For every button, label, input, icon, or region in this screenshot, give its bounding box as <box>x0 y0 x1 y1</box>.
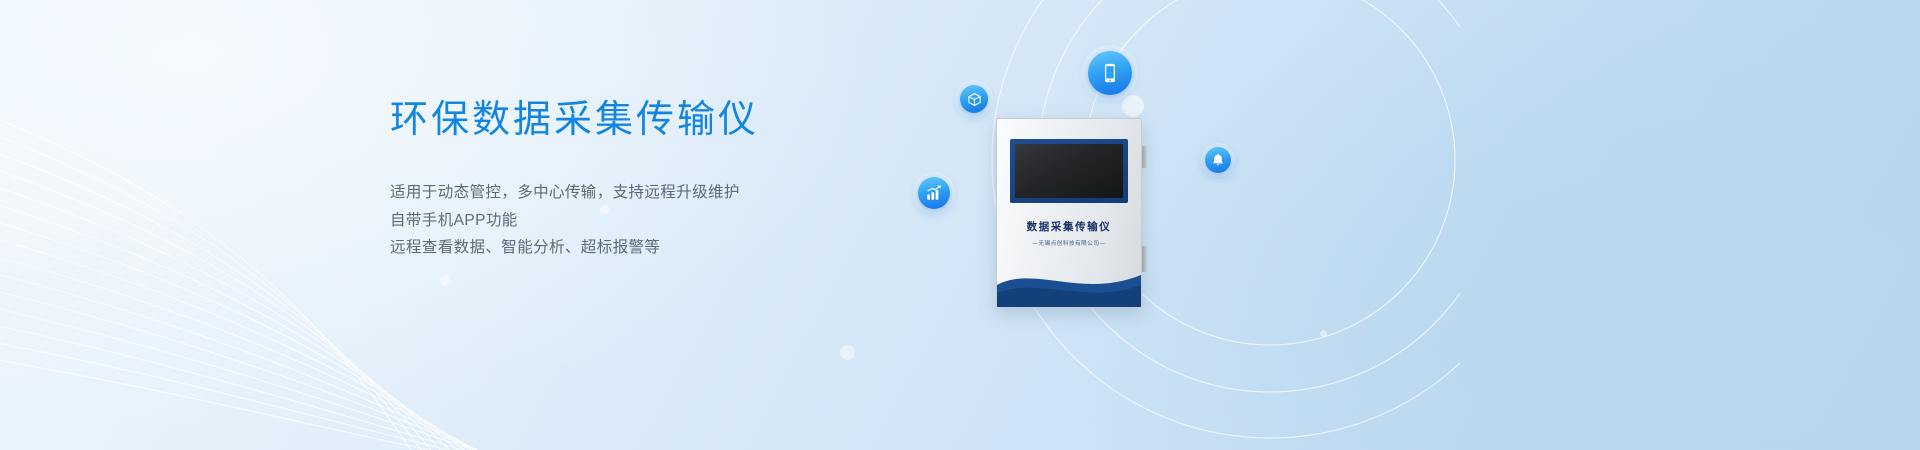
device-hinge <box>1142 146 1147 168</box>
banner-subtitle-list: 适用于动态管控，多中心传输，支持远程升级维护 自带手机APP功能 远程查看数据、… <box>390 179 820 262</box>
page-title: 环保数据采集传输仪 <box>390 96 820 144</box>
product-device-image: 数据采集传输仪 —无锡点创科技有限公司— <box>996 118 1142 308</box>
banner-subtitle-line-1: 适用于动态管控，多中心传输，支持远程升级维护 <box>390 179 820 207</box>
device-screen <box>1015 144 1123 198</box>
product-hero-banner: 环保数据采集传输仪 适用于动态管控，多中心传输，支持远程升级维护 自带手机APP… <box>0 0 1920 450</box>
device-company-label: —无锡点创科技有限公司— <box>997 239 1141 247</box>
decorative-arcs <box>840 0 1460 450</box>
device-hinge <box>1142 246 1147 272</box>
device-cabinet: 数据采集传输仪 —无锡点创科技有限公司— <box>996 118 1142 308</box>
banner-copy: 环保数据采集传输仪 适用于动态管控，多中心传输，支持远程升级维护 自带手机APP… <box>390 96 820 262</box>
cube-icon-core <box>960 85 988 113</box>
decorative-dot <box>440 275 451 286</box>
cube-icon <box>955 80 993 118</box>
decorative-dot <box>840 345 855 360</box>
decorative-dot <box>1320 330 1327 337</box>
device-screen-bezel <box>1010 139 1128 203</box>
alarm-bell-icon-core <box>1205 147 1231 173</box>
device-model-label: 数据采集传输仪 <box>997 219 1141 234</box>
mobile-phone-icon-core <box>1088 51 1132 95</box>
mobile-phone-icon <box>1082 45 1138 101</box>
banner-subtitle-line-2: 自带手机APP功能 <box>390 207 820 235</box>
bar-chart-icon <box>913 172 955 214</box>
bar-chart-icon-core <box>918 177 950 209</box>
banner-subtitle-line-3: 远程查看数据、智能分析、超标报警等 <box>390 234 820 262</box>
decorative-dot <box>1122 95 1144 117</box>
device-wave-decor <box>997 259 1141 307</box>
alarm-bell-icon <box>1201 143 1235 177</box>
